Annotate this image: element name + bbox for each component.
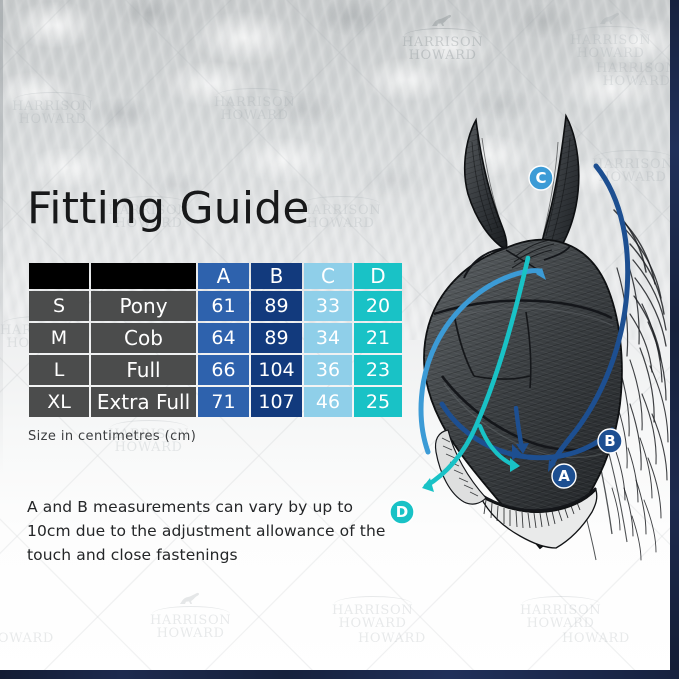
cell-a: 66 — [198, 355, 249, 385]
svg-text:C: C — [535, 169, 546, 187]
fitting-guide-image: HARRISON HOWARD HARRISON HOWARD HARRISON… — [0, 0, 679, 679]
cell-a: 71 — [198, 387, 249, 417]
table-row: M Cob 64 89 34 21 — [29, 323, 402, 353]
marker-b: B — [598, 429, 622, 453]
size-chart-table: A B C D S Pony 61 89 33 20 M Cob 64 89 3… — [27, 261, 404, 419]
table-row: XL Extra Full 71 107 46 25 — [29, 387, 402, 417]
header-cell-c: C — [304, 263, 352, 289]
cell-size: M — [29, 323, 89, 353]
cell-b: 89 — [251, 291, 302, 321]
header-cell-name — [91, 263, 196, 289]
cell-size: L — [29, 355, 89, 385]
cell-c: 46 — [304, 387, 352, 417]
cell-b: 107 — [251, 387, 302, 417]
cell-d: 20 — [354, 291, 402, 321]
cell-name: Full — [91, 355, 196, 385]
cell-d: 25 — [354, 387, 402, 417]
header-cell-size — [29, 263, 89, 289]
cell-b: 104 — [251, 355, 302, 385]
svg-text:D: D — [396, 503, 408, 521]
cell-d: 23 — [354, 355, 402, 385]
svg-text:B: B — [604, 432, 615, 450]
cell-name: Cob — [91, 323, 196, 353]
cell-size: S — [29, 291, 89, 321]
frame-edge-left — [0, 0, 3, 679]
cell-name: Pony — [91, 291, 196, 321]
cell-c: 36 — [304, 355, 352, 385]
cell-d: 21 — [354, 323, 402, 353]
cell-a: 61 — [198, 291, 249, 321]
cell-c: 33 — [304, 291, 352, 321]
header-cell-d: D — [354, 263, 402, 289]
measurement-note: A and B measurements can vary by up to 1… — [27, 495, 387, 567]
svg-text:A: A — [558, 467, 570, 485]
table-row: S Pony 61 89 33 20 — [29, 291, 402, 321]
cell-a: 64 — [198, 323, 249, 353]
table-row: L Full 66 104 36 23 — [29, 355, 402, 385]
cell-b: 89 — [251, 323, 302, 353]
marker-a: A — [552, 464, 576, 488]
frame-edge-right — [670, 0, 679, 679]
cell-size: XL — [29, 387, 89, 417]
page-title: Fitting Guide — [27, 183, 310, 234]
cell-c: 34 — [304, 323, 352, 353]
marker-d: D — [390, 500, 414, 524]
frame-edge-bottom — [0, 670, 679, 679]
header-cell-a: A — [198, 263, 249, 289]
units-caption: Size in centimetres (cm) — [28, 429, 196, 444]
table-header-row: A B C D — [29, 263, 402, 289]
header-cell-b: B — [251, 263, 302, 289]
cell-name: Extra Full — [91, 387, 196, 417]
marker-c: C — [529, 166, 553, 190]
